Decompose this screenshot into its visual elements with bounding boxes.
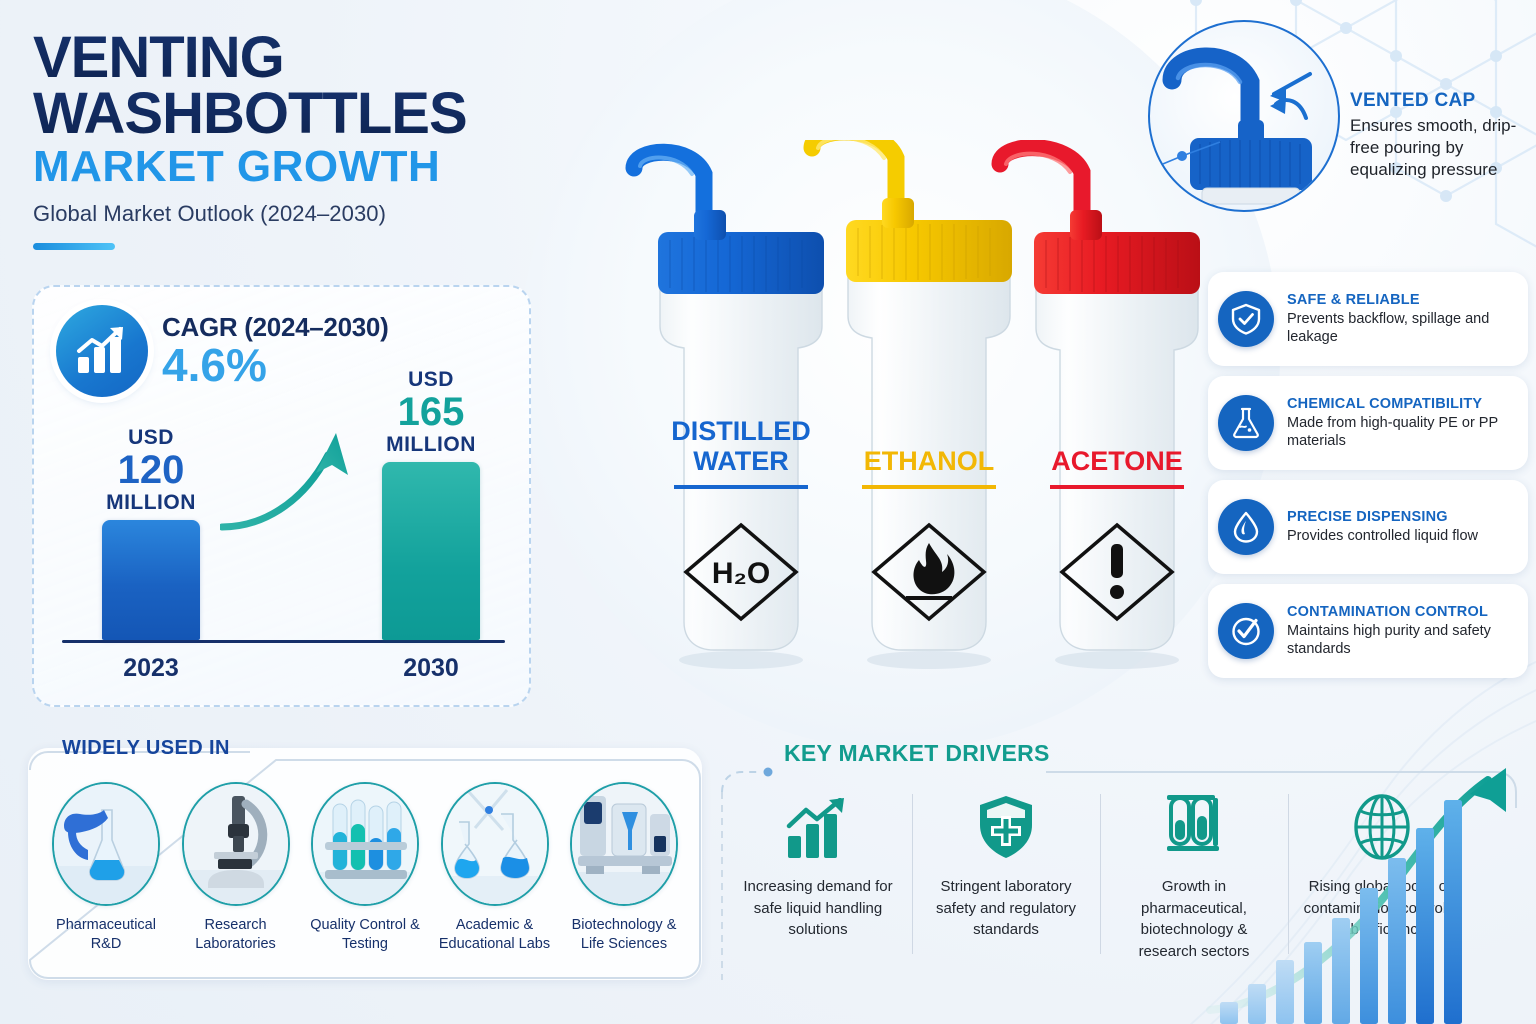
gloved-hand-flask-icon	[54, 784, 158, 904]
bar-2023-value: 120	[76, 450, 226, 491]
use-item-biotechnology[interactable]: Biotechnology & Life Sciences	[562, 782, 686, 953]
title-accent-rule	[33, 243, 115, 250]
market-growth-chart-panel: CAGR (2024–2030) 4.6% USD 120 MILL	[32, 285, 531, 707]
test-tube-rack-icon	[313, 784, 417, 904]
infographic-canvas: VENTING WASHBOTTLES MARKET GROWTH Global…	[0, 0, 1536, 1024]
bottle-2-label: ETHANOL	[864, 446, 995, 476]
gloved-hand-flask-photo	[52, 782, 160, 906]
microscope-icon	[184, 784, 288, 904]
bottle-ethanol: ETHANOL	[812, 140, 1012, 650]
driver-text: Increasing demand for safe liquid handli…	[734, 876, 902, 941]
feature-card-safe-reliable[interactable]: SAFE & RELIABLE Prevents backflow, spill…	[1208, 272, 1528, 366]
bar-2030-value: 165	[356, 392, 506, 433]
bottle-distilled-water: DISTILLED WATER H₂O	[634, 152, 824, 650]
bottle-1-hazard-label: H₂O	[712, 557, 770, 590]
use-item-academic-labs[interactable]: Academic & Educational Labs	[433, 782, 557, 953]
vented-cap-photo-circle	[1148, 20, 1340, 212]
vented-cap-description: Ensures smooth, drip-free pouring by equ…	[1350, 115, 1536, 180]
test-tube-rack-photo	[311, 782, 419, 906]
flasks-pipette-icon	[443, 784, 547, 904]
feature-card-list: SAFE & RELIABLE Prevents backflow, spill…	[1208, 272, 1528, 688]
bar-2023-unit-suffix: MILLION	[76, 491, 226, 515]
feature-card-chemical-compatibility[interactable]: CHEMICAL COMPATIBILITY Made from high-qu…	[1208, 376, 1528, 470]
lab-instrument-photo	[570, 782, 678, 906]
feature-desc: Made from high-quality PE or PP material…	[1287, 414, 1514, 451]
droplet-icon	[1229, 510, 1263, 544]
bar-2030-unit-suffix: MILLION	[356, 433, 506, 457]
bottle-3-label: ACETONE	[1051, 446, 1183, 476]
title-line-2: WASHBOTTLES	[33, 86, 573, 142]
bar-2023	[102, 520, 200, 640]
driver-increasing-demand[interactable]: Increasing demand for safe liquid handli…	[724, 788, 912, 962]
bar-growth-icon	[786, 798, 850, 860]
use-item-research-laboratories[interactable]: Research Laboratories	[174, 782, 298, 953]
bar-growth-icon-wrap	[734, 788, 902, 860]
x-tick-2023: 2023	[91, 654, 211, 683]
lab-instrument-icon	[572, 784, 676, 904]
use-item-label: Pharmaceutical R&D	[44, 916, 168, 953]
use-item-label: Biotechnology & Life Sciences	[562, 916, 686, 953]
vented-cap-callout: VENTED CAP Ensures smooth, drip-free pou…	[1148, 18, 1536, 233]
use-item-quality-control[interactable]: Quality Control & Testing	[303, 782, 427, 953]
title-line-1: VENTING	[33, 30, 573, 86]
feature-desc: Maintains high purity and safety standar…	[1287, 622, 1514, 659]
feature-title: PRECISE DISPENSING	[1287, 509, 1514, 526]
vented-cap-illustration	[1150, 22, 1338, 210]
chart-baseline	[62, 640, 505, 643]
bar-2023-unit-prefix: USD	[76, 426, 226, 450]
bar-2030-unit-prefix: USD	[356, 368, 506, 392]
circle-check-icon-wrap	[1218, 603, 1274, 659]
driver-text: Stringent laboratory safety and regulato…	[922, 876, 1090, 941]
x-tick-2030: 2030	[371, 654, 491, 683]
flask-icon-wrap	[1218, 395, 1274, 451]
driver-stringent-safety[interactable]: Stringent laboratory safety and regulato…	[912, 788, 1100, 962]
widely-used-title: WIDELY USED IN	[56, 737, 236, 760]
title-line-3: MARKET GROWTH	[33, 141, 573, 193]
subtitle: Global Market Outlook (2024–2030)	[33, 201, 573, 227]
use-item-pharmaceutical-rd[interactable]: Pharmaceutical R&D	[44, 782, 168, 953]
use-item-label: Research Laboratories	[174, 916, 298, 953]
circle-check-icon	[1229, 614, 1263, 648]
flasks-pipette-photo	[441, 782, 549, 906]
bar-label-2030: USD 165 MILLION	[356, 368, 506, 457]
bar-2030	[382, 462, 480, 640]
bar-chart: USD 120 MILLION USD 165 MILLION 2023 203…	[34, 375, 529, 705]
bar-label-2023: USD 120 MILLION	[76, 426, 226, 515]
rising-bars-decoration	[1206, 754, 1536, 1024]
shield-check-icon	[1229, 302, 1263, 336]
shield-cross-icon	[976, 794, 1036, 860]
header: VENTING WASHBOTTLES MARKET GROWTH Global…	[33, 30, 573, 250]
vented-cap-title: VENTED CAP	[1350, 90, 1536, 112]
feature-title: CONTAMINATION CONTROL	[1287, 604, 1514, 621]
feature-desc: Prevents backflow, spillage and leakage	[1287, 310, 1514, 347]
vented-cap-text: VENTED CAP Ensures smooth, drip-free pou…	[1350, 90, 1536, 180]
feature-card-contamination-control[interactable]: CONTAMINATION CONTROL Maintains high pur…	[1208, 584, 1528, 678]
use-item-label: Academic & Educational Labs	[433, 916, 557, 953]
shield-check-icon-wrap	[1218, 291, 1274, 347]
growth-chart-icon	[74, 325, 130, 377]
bottle-1-label-line2: WATER	[693, 446, 789, 476]
shield-cross-icon-wrap	[922, 788, 1090, 860]
flask-icon	[1229, 406, 1263, 440]
feature-title: SAFE & RELIABLE	[1287, 292, 1514, 309]
use-item-label: Quality Control & Testing	[303, 916, 427, 953]
feature-title: CHEMICAL COMPATIBILITY	[1287, 396, 1514, 413]
key-drivers-title: KEY MARKET DRIVERS	[784, 740, 1050, 767]
feature-desc: Provides controlled liquid flow	[1287, 527, 1514, 545]
widely-used-panel: WIDELY USED IN Pharmaceutical R&D	[28, 748, 702, 980]
washbottles-photo: DISTILLED WATER H₂O ETHANOL	[596, 140, 1202, 720]
widely-used-items: Pharmaceutical R&D R	[44, 782, 686, 953]
microscope-photo	[182, 782, 290, 906]
bottle-1-label-line1: DISTILLED	[671, 416, 811, 446]
droplet-icon-wrap	[1218, 499, 1274, 555]
feature-card-precise-dispensing[interactable]: PRECISE DISPENSING Provides controlled l…	[1208, 480, 1528, 574]
